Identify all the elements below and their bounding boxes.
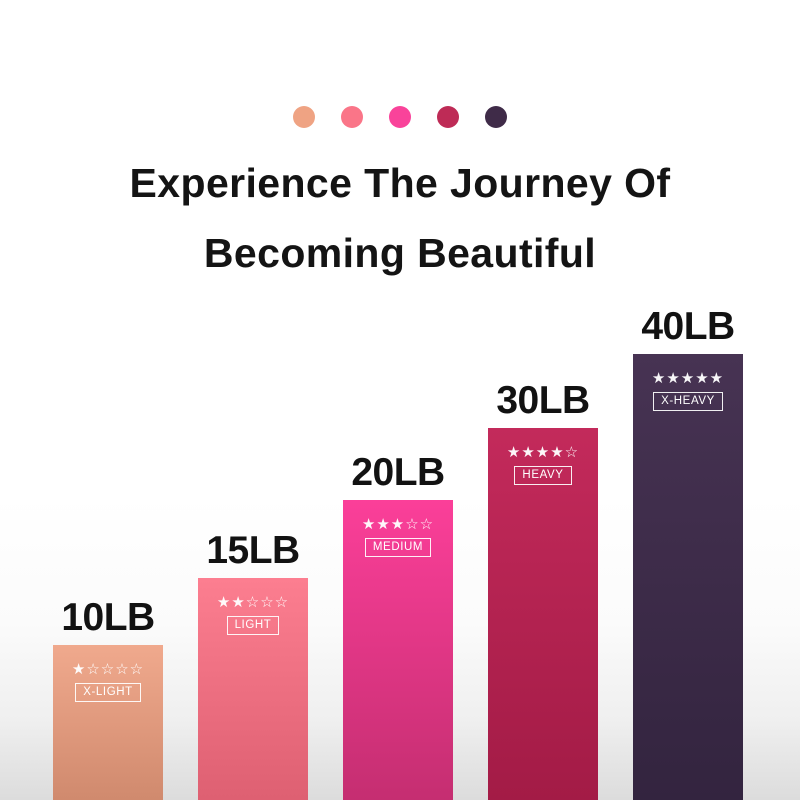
bar-group: 15LB★★☆☆☆LIGHT [198, 578, 308, 800]
resistance-band-bar-chart: 10LB★☆☆☆☆X-LIGHT15LB★★☆☆☆LIGHT20LB★★★☆☆M… [0, 0, 800, 800]
star-rating-icon: ★★★★★ [652, 370, 724, 387]
bar-heavy: ★★★★☆HEAVY [488, 428, 598, 800]
bar-value-label: 20LB [351, 453, 444, 492]
tier-badge: HEAVY [514, 466, 571, 485]
tier-badge: LIGHT [227, 616, 280, 635]
tier-badge: X-HEAVY [653, 392, 723, 411]
star-rating-icon: ★★★☆☆ [362, 516, 434, 533]
star-rating-icon: ★★☆☆☆ [217, 594, 289, 611]
bar-light: ★★☆☆☆LIGHT [198, 578, 308, 800]
bar-x-light: ★☆☆☆☆X-LIGHT [53, 645, 163, 800]
bar-group: 30LB★★★★☆HEAVY [488, 428, 598, 800]
star-rating-icon: ★★★★☆ [507, 444, 579, 461]
product-poster: Experience The Journey Of Becoming Beaut… [0, 0, 800, 800]
bar-group: 10LB★☆☆☆☆X-LIGHT [53, 645, 163, 800]
bar-value-label: 40LB [641, 307, 734, 346]
star-rating-icon: ★☆☆☆☆ [72, 661, 144, 678]
bar-value-label: 15LB [206, 531, 299, 570]
bar-value-label: 30LB [496, 381, 589, 420]
tier-badge: X-LIGHT [75, 683, 141, 702]
bar-medium: ★★★☆☆MEDIUM [343, 500, 453, 800]
bar-x-heavy: ★★★★★X-HEAVY [633, 354, 743, 800]
bar-group: 20LB★★★☆☆MEDIUM [343, 500, 453, 800]
bar-group: 40LB★★★★★X-HEAVY [633, 354, 743, 800]
tier-badge: MEDIUM [365, 538, 431, 557]
bar-value-label: 10LB [61, 598, 154, 637]
